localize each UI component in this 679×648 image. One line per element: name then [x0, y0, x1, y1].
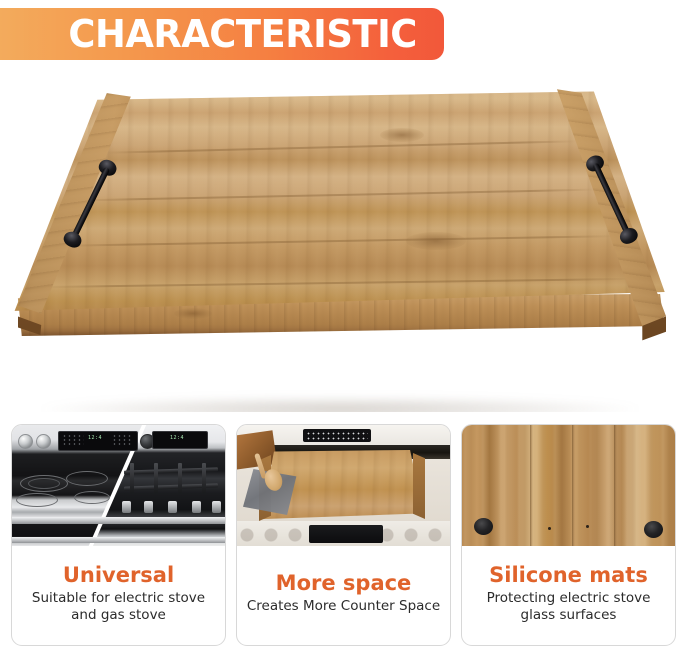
gas-grate: [130, 463, 134, 493]
panel-subtitle: Creates More Counter Space: [247, 598, 440, 614]
electric-knob: [36, 434, 51, 449]
gas-grate: [154, 463, 158, 493]
feature-panel-silicone-mats: Silicone mats Protecting electric stove …: [461, 424, 676, 646]
panel-subtitle-line: Creates More Counter Space: [247, 598, 440, 614]
hero-product-image: [0, 66, 679, 412]
panel-subtitle: Protecting electric stove glass surfaces: [487, 590, 651, 623]
panel-title: Silicone mats: [489, 564, 648, 587]
panel-subtitle-line: and gas stove: [32, 607, 205, 623]
plank-seam: [614, 425, 617, 546]
control-readout: 12:4: [88, 435, 102, 441]
panel-caption: Universal Suitable for electric stove an…: [12, 546, 225, 645]
panel-subtitle-line: Suitable for electric stove: [32, 590, 205, 606]
panel-subtitle-line: Protecting electric stove: [487, 590, 651, 606]
plank-seam: [572, 425, 575, 546]
oven-window: [309, 525, 383, 543]
panel-subtitle: Suitable for electric stove and gas stov…: [32, 590, 205, 623]
control-keypad-dots: [112, 434, 132, 446]
gas-grate: [202, 463, 206, 493]
gas-knob: [144, 501, 153, 513]
burner-ring: [74, 491, 110, 504]
burner-ring: [28, 478, 60, 489]
panel-caption: More space Creates More Counter Space: [237, 546, 450, 645]
product-drop-shadow: [40, 396, 640, 412]
wood-knot: [406, 232, 466, 250]
gas-grate: [178, 463, 182, 493]
feature-panels: 12:4 12:4: [0, 424, 679, 648]
silicone-mat-pad: [644, 521, 663, 538]
feature-panel-more-space: More space Creates More Counter Space: [236, 424, 451, 646]
gas-knob: [168, 501, 177, 513]
stove-control-panel: [303, 429, 371, 442]
characteristic-banner: CHARACTERISTIC: [0, 8, 444, 60]
control-readout: 12:4: [170, 435, 184, 441]
panel-title: Universal: [63, 564, 174, 587]
product-photo-stage: [0, 66, 679, 412]
wooden-board: [8, 82, 670, 382]
photo-board-underside: [462, 425, 675, 546]
burner-ring: [66, 471, 108, 486]
screw-hole: [548, 527, 551, 530]
photo-board-on-stove: [237, 425, 450, 546]
screw-hole: [586, 525, 589, 528]
panel-subtitle-line: glass surfaces: [487, 607, 651, 623]
electric-knob: [18, 434, 33, 449]
silicone-mat-pad: [474, 518, 493, 535]
burner-ring: [16, 493, 58, 507]
gas-knob: [192, 501, 201, 513]
oven-handle-bar: [12, 517, 225, 524]
photo-split-electric-gas-stove: 12:4 12:4: [12, 425, 225, 546]
board-right-rail: [413, 453, 425, 519]
oven-handle-bar: [12, 537, 225, 543]
wood-knot: [174, 308, 212, 319]
control-keypad-dots: [62, 434, 84, 446]
feature-panel-universal: 12:4 12:4: [11, 424, 226, 646]
wood-knot: [380, 128, 424, 142]
banner-title: CHARACTERISTIC: [68, 15, 416, 53]
gas-knob: [122, 501, 131, 513]
gas-knob: [212, 501, 221, 513]
panel-title: More space: [276, 572, 412, 595]
panel-caption: Silicone mats Protecting electric stove …: [462, 546, 675, 645]
plank-seam: [530, 425, 533, 546]
